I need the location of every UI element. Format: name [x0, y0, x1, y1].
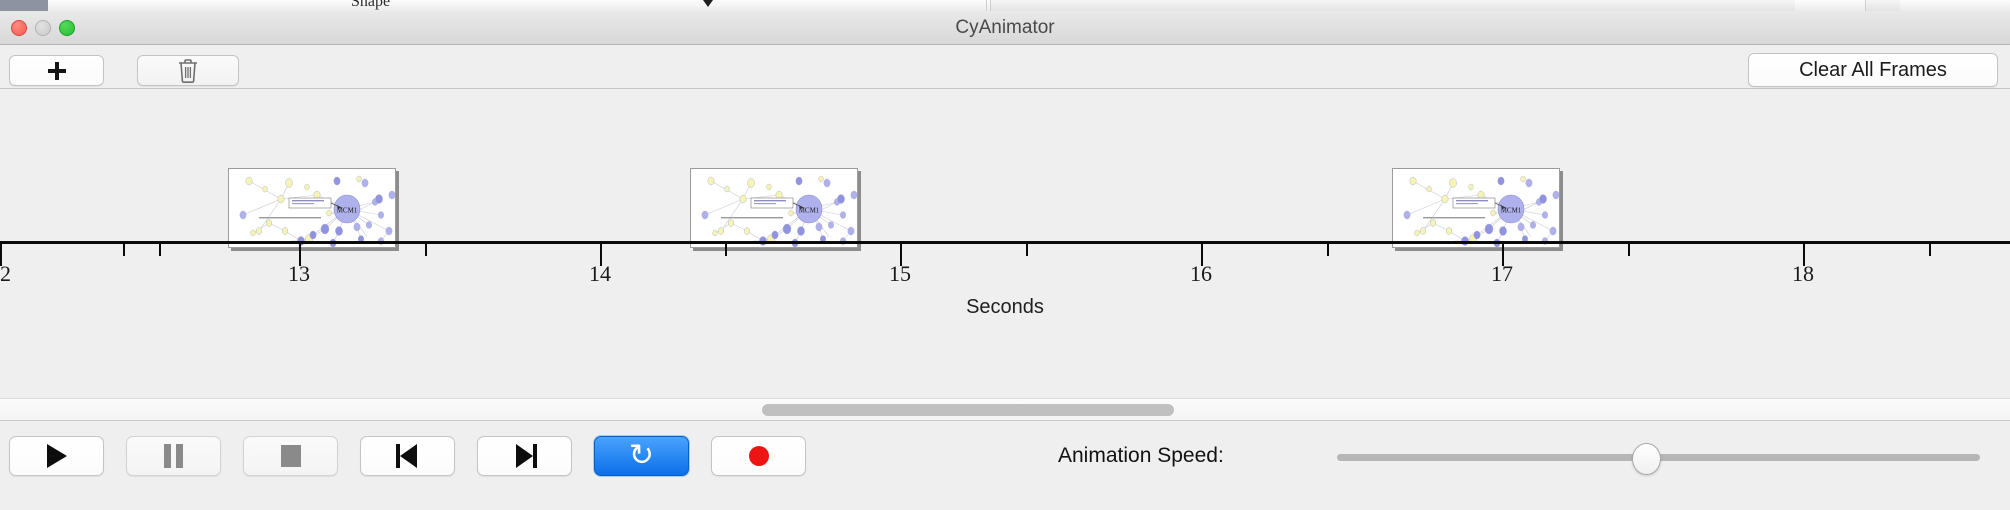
horizontal-scrollbar-track[interactable]: [0, 398, 2010, 420]
background-window-selection: [0, 0, 48, 11]
timeline-frame-thumbnail[interactable]: MCM1: [1392, 168, 1560, 248]
background-tab: [1900, 0, 2010, 11]
minimize-button[interactable]: [35, 20, 51, 36]
background-tab: [48, 0, 159, 11]
skip-backward-icon: [396, 444, 420, 468]
background-tab: [938, 0, 987, 11]
cyanimator-window: Shape CyAnimator Clear All Frames M: [0, 0, 2010, 510]
background-tab: [450, 0, 991, 11]
next-frame-button[interactable]: [477, 436, 572, 476]
axis-tick-label: 18: [1792, 261, 1814, 287]
axis-minor-tick: [425, 244, 427, 256]
axis-minor-tick: [1628, 244, 1630, 256]
skip-forward-icon: [513, 444, 537, 468]
background-window-strip: Shape: [0, 0, 2010, 11]
toolbar: Clear All Frames: [0, 45, 2010, 89]
horizontal-scrollbar-thumb[interactable]: [762, 404, 1174, 416]
play-icon: [47, 444, 67, 468]
previous-frame-button[interactable]: [360, 436, 455, 476]
timeline-panel[interactable]: MCM1MCM1MCM1 12131415161718 Seconds: [0, 89, 2010, 398]
axis-minor-tick: [725, 244, 727, 256]
background-tab: [210, 0, 321, 11]
axis-title: Seconds: [0, 296, 2010, 319]
timeline-frame-thumbnail[interactable]: MCM1: [228, 168, 396, 248]
play-button[interactable]: [9, 436, 104, 476]
axis-minor-tick: [159, 244, 161, 256]
axis-tick-label: 15: [889, 261, 911, 287]
animation-speed-label: Animation Speed:: [1058, 444, 1224, 468]
plus-icon: [47, 61, 67, 81]
pause-button: [126, 436, 221, 476]
timeline-axis: [0, 241, 2010, 244]
axis-tick-label: 13: [288, 261, 310, 287]
axis-tick-label: 14: [589, 261, 611, 287]
axis-tick-label: 17: [1491, 261, 1513, 287]
window-title: CyAnimator: [0, 11, 2010, 45]
animation-speed-slider-knob[interactable]: [1632, 443, 1661, 475]
axis-tick-label: 12: [0, 261, 11, 287]
axis-minor-tick: [1327, 244, 1329, 256]
close-button[interactable]: [11, 20, 27, 36]
axis-minor-tick: [123, 244, 125, 256]
stop-button: [243, 436, 338, 476]
background-window-label: Shape: [351, 0, 390, 11]
timeline-frame-thumbnail[interactable]: MCM1: [690, 168, 858, 248]
trash-icon: [177, 58, 199, 84]
record-icon: [749, 446, 769, 466]
loop-icon: ↻: [629, 441, 654, 471]
title-bar: CyAnimator: [0, 11, 2010, 45]
delete-frame-button[interactable]: [137, 55, 239, 86]
stop-icon: [281, 445, 301, 467]
axis-tick-label: 16: [1190, 261, 1212, 287]
background-tab: [1795, 0, 1866, 11]
axis-minor-tick: [1026, 244, 1028, 256]
loop-button[interactable]: ↻: [594, 436, 689, 476]
zoom-button[interactable]: [59, 20, 75, 36]
window-controls: [11, 20, 75, 36]
background-tab: [158, 0, 211, 11]
background-caret-icon: [703, 0, 713, 7]
playback-toolbar: ↻ Animation Speed:: [0, 420, 2010, 510]
add-frame-button[interactable]: [9, 55, 104, 86]
axis-minor-tick: [1929, 244, 1931, 256]
pause-icon: [164, 444, 183, 468]
clear-all-frames-button[interactable]: Clear All Frames: [1748, 53, 1998, 87]
record-button[interactable]: [711, 436, 806, 476]
